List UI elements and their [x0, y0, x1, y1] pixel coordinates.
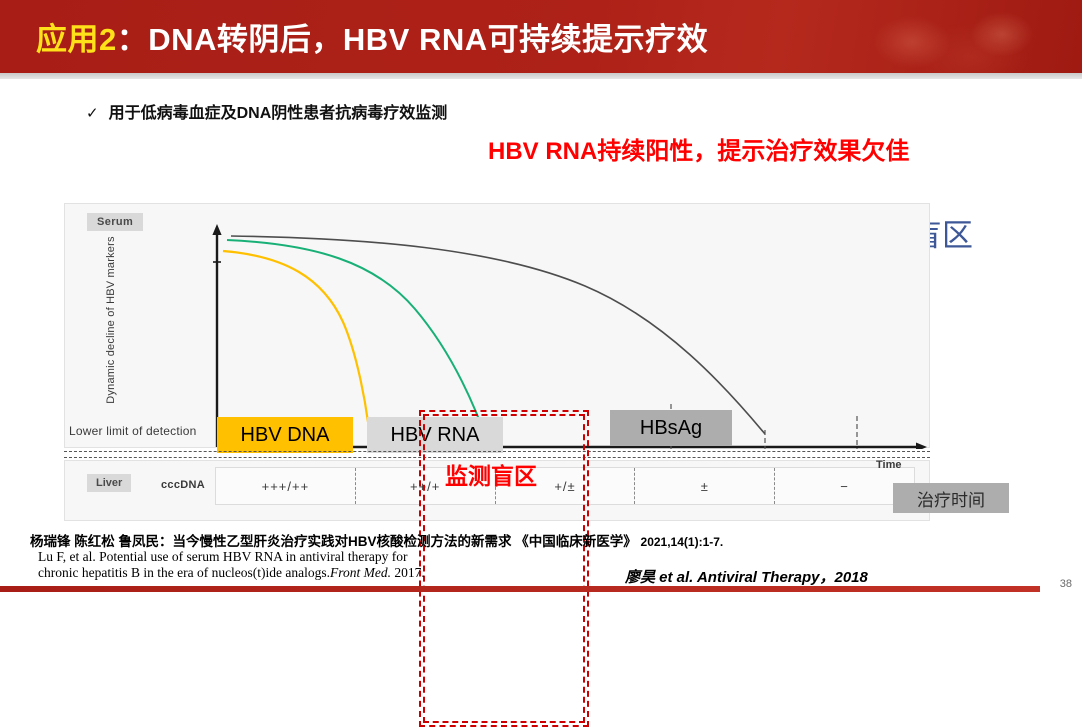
reference-primary: 杨瑞锋 陈红松 鲁凤民：当今慢性乙型肝炎治疗实践对HBV核酸检测方法的新需求 《…: [30, 530, 723, 550]
y-axis-arrow: [212, 224, 221, 235]
x-axis-arrow: [916, 443, 927, 450]
title-divider: [0, 73, 1082, 79]
liver-decoration-image: [852, 0, 1082, 73]
curve-hbv-dna: [223, 251, 368, 422]
right-margin: [1078, 79, 1082, 594]
page-title-highlight: 应用2: [36, 22, 117, 57]
reference-secondary-line1: Lu F, et al. Potential use of serum HBV …: [38, 549, 407, 564]
cccdna-row-label: cccDNA: [161, 479, 205, 491]
subheading-label: 用于低病毒血症及DNA阴性患者抗病毒疗效监测: [109, 105, 448, 122]
liver-tag: Liver: [87, 474, 131, 492]
reference-secondary-journal: Front Med.: [330, 565, 391, 580]
reference-tertiary: 廖昊 et al. Antiviral Therapy，2018: [625, 566, 868, 587]
reference-secondary-year: 2017.: [391, 565, 425, 580]
page-title-rest: ：DNA转阴后，HBV RNA可持续提示疗效: [117, 22, 708, 57]
reference-secondary: Lu F, et al. Potential use of serum HBV …: [38, 549, 598, 581]
treatment-time-callout: 治疗时间: [893, 483, 1009, 513]
slide-title-bar: 应用2：DNA转阴后，HBV RNA可持续提示疗效: [0, 0, 1082, 73]
x-axis-time-label: Time: [876, 459, 901, 471]
cccdna-cell: ±: [635, 468, 775, 504]
hbv-marker-decline-figure: Serum Dynamic decline of HBV markers Low…: [64, 203, 930, 521]
legend-box-hbv-dna: HBV DNA: [217, 417, 353, 453]
bottom-accent-bar: [0, 586, 1040, 592]
reference-secondary-line2: chronic hepatitis B in the era of nucleo…: [38, 565, 330, 580]
cccdna-cell: +++/++: [216, 468, 356, 504]
page-number: 38: [1060, 578, 1072, 590]
page-title: 应用2：DNA转阴后，HBV RNA可持续提示疗效: [36, 14, 708, 59]
subheading: ✓用于低病毒血症及DNA阴性患者抗病毒疗效监测: [86, 99, 447, 123]
blind-zone-label: 监测盲区: [445, 457, 537, 491]
red-statement: HBV RNA持续阳性，提示治疗效果欠佳: [488, 131, 909, 166]
check-icon: ✓: [86, 104, 99, 122]
reference-primary-main: 杨瑞锋 陈红松 鲁凤民：当今慢性乙型肝炎治疗实践对HBV核酸检测方法的新需求 《…: [30, 534, 637, 549]
legend-box-hbsag: HBsAg: [610, 410, 732, 446]
reference-primary-tail: 2021,14(1):1-7.: [641, 535, 724, 549]
curve-hbsag: [231, 236, 765, 434]
